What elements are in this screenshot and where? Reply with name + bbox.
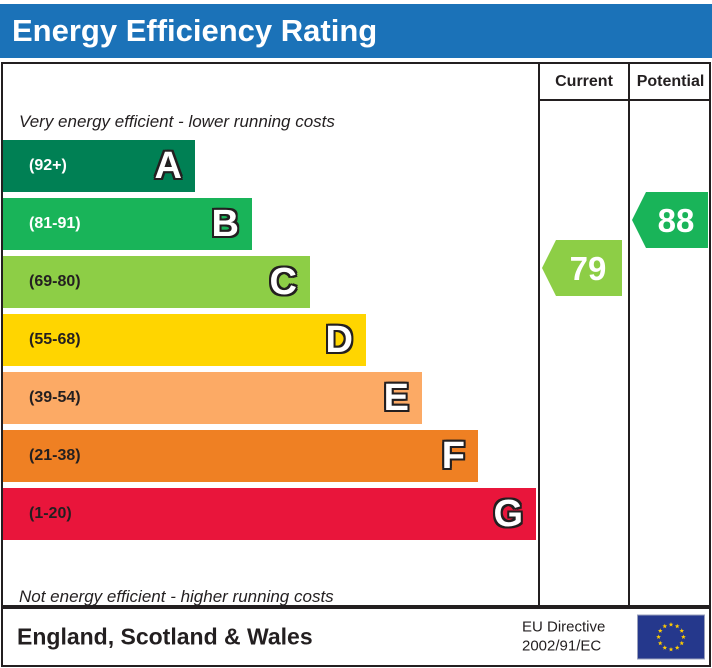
band-bar-a: (92+)A [3, 140, 195, 192]
band-bars: (92+)A(81-91)B(69-80)C(55-68)D(39-54)E(2… [3, 64, 538, 605]
column-divider-current [538, 64, 540, 605]
column-divider-potential [628, 64, 630, 605]
rating-arrow-current: 79 [542, 240, 622, 296]
band-bar-b: (81-91)B [3, 198, 252, 250]
band-letter-f: F [442, 437, 465, 475]
column-header-potential: Potential [630, 64, 711, 99]
band-letter-a: A [155, 147, 182, 185]
band-letter-b: B [212, 205, 239, 243]
eu-flag-icon [637, 615, 705, 660]
rating-value-potential: 88 [646, 204, 695, 237]
band-range-g: (1-20) [29, 505, 72, 523]
band-range-f: (21-38) [29, 447, 81, 465]
band-bar-g: (1-20)G [3, 488, 536, 540]
band-bar-f: (21-38)F [3, 430, 478, 482]
band-bar-d: (55-68)D [3, 314, 366, 366]
rating-arrow-potential: 88 [632, 192, 708, 248]
band-range-d: (55-68) [29, 331, 81, 349]
band-range-e: (39-54) [29, 389, 81, 407]
band-bar-c: (69-80)C [3, 256, 310, 308]
band-bar-e: (39-54)E [3, 372, 422, 424]
band-letter-c: C [270, 263, 297, 301]
footer-directive-line2: 2002/91/EC [522, 637, 605, 656]
rating-table: Current Potential Very energy efficient … [1, 62, 711, 607]
column-header-divider [538, 99, 711, 101]
band-letter-g: G [493, 495, 523, 533]
column-header-current: Current [540, 64, 628, 99]
band-letter-d: D [326, 321, 353, 359]
footer-region-label: England, Scotland & Wales [17, 624, 313, 651]
band-range-c: (69-80) [29, 273, 81, 291]
rating-value-current: 79 [558, 252, 607, 285]
energy-efficiency-rating-chart: Energy Efficiency Rating Current Potenti… [0, 0, 712, 668]
footer-directive: EU Directive 2002/91/EC [522, 618, 605, 656]
page-title: Energy Efficiency Rating [12, 13, 377, 49]
band-range-b: (81-91) [29, 215, 81, 233]
title-bar: Energy Efficiency Rating [0, 4, 712, 58]
band-range-a: (92+) [29, 157, 67, 175]
footer-directive-line1: EU Directive [522, 618, 605, 637]
footer-bar: England, Scotland & Wales EU Directive 2… [1, 607, 711, 667]
band-letter-e: E [384, 379, 409, 417]
